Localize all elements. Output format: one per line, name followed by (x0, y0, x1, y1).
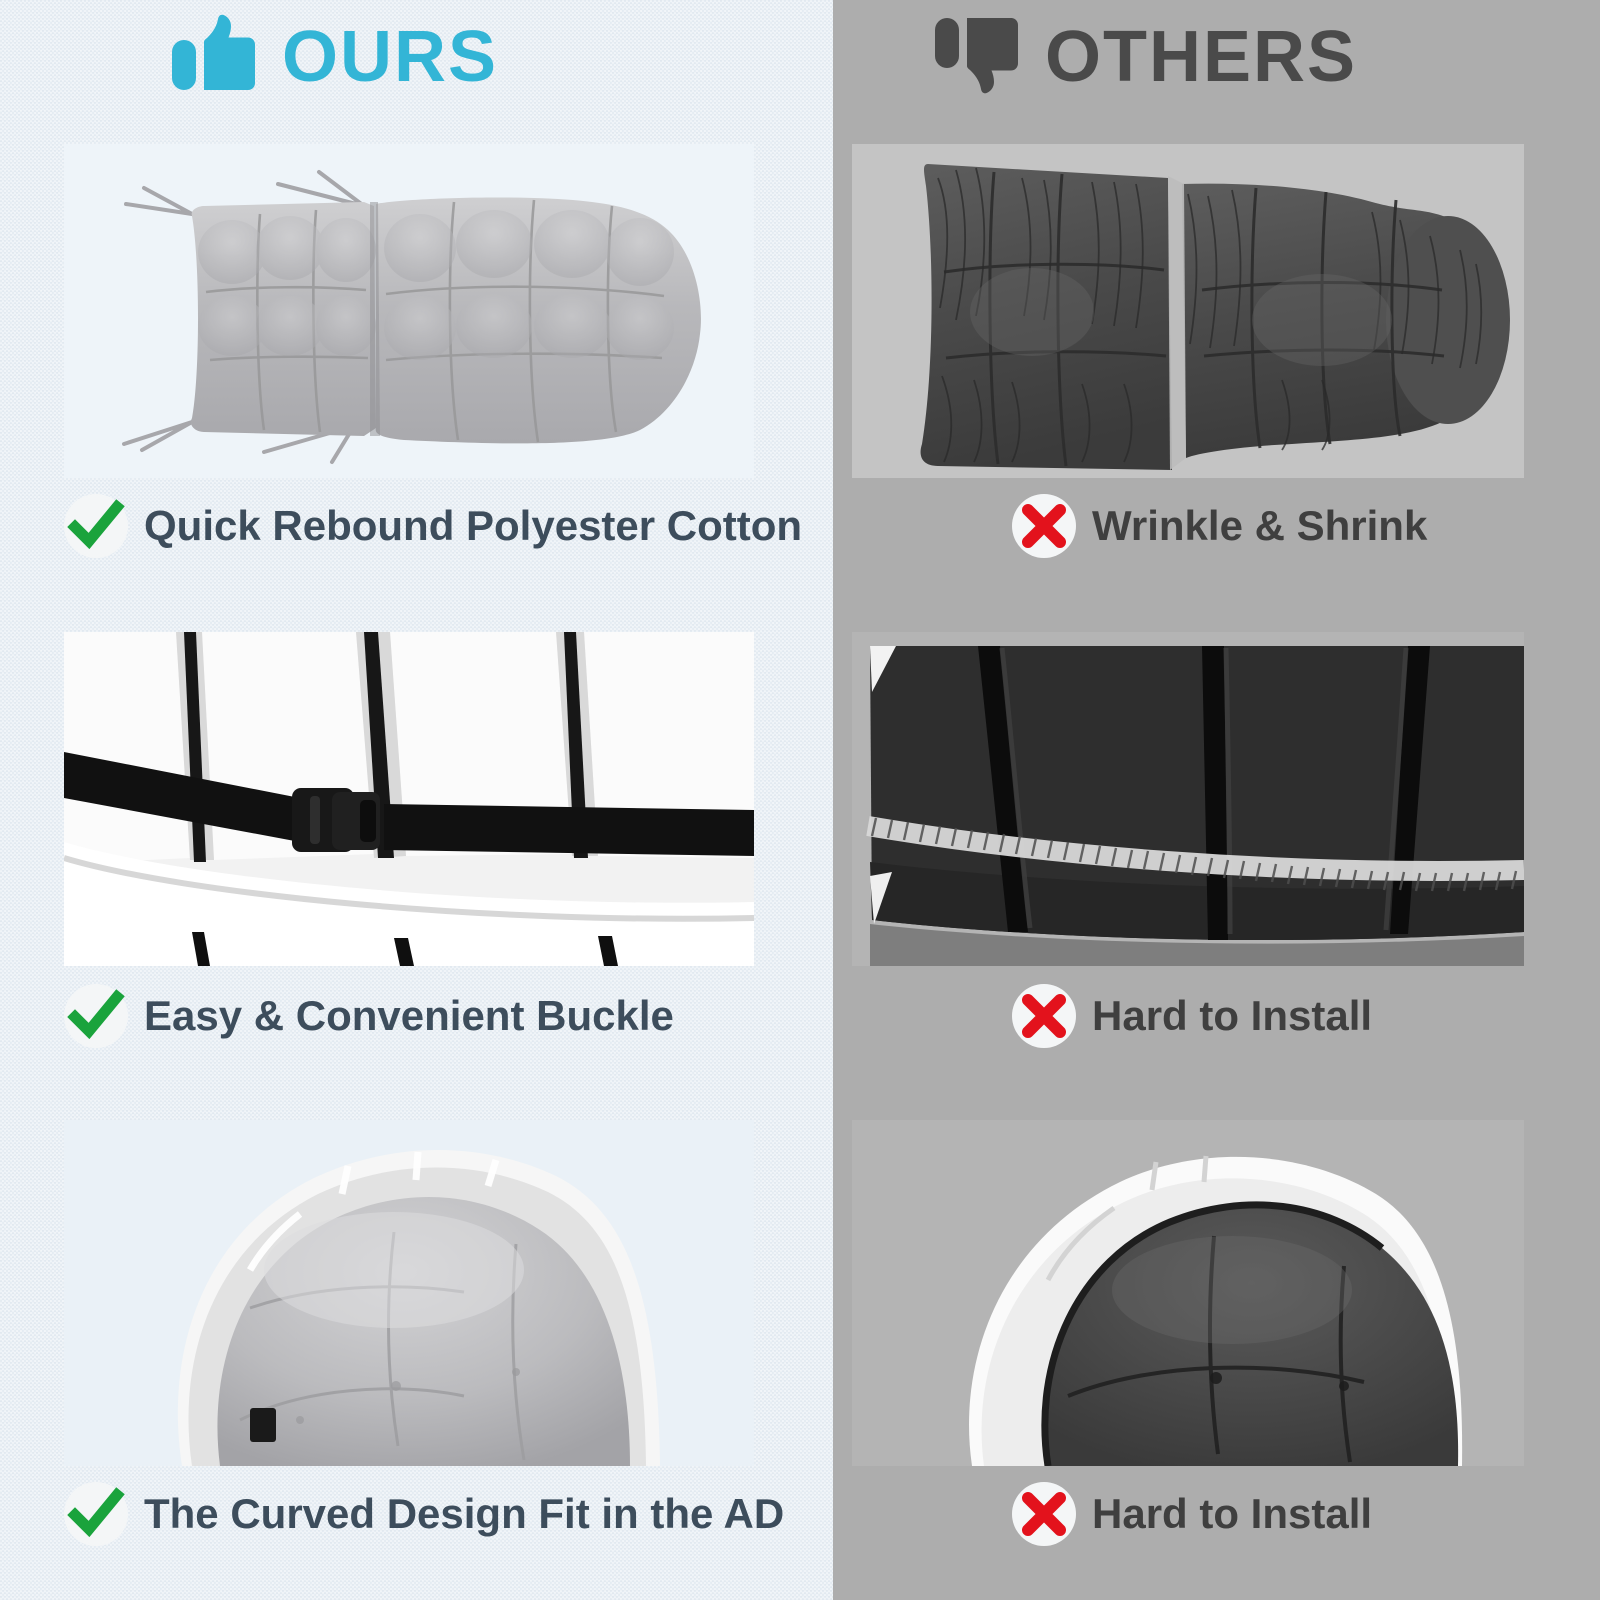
red-cross-icon (1012, 494, 1076, 558)
comparison-infographic: OURS (0, 0, 1600, 1600)
ours-caption-row2: Easy & Convenient Buckle (64, 984, 674, 1048)
others-caption-row1: Wrinkle & Shrink (1012, 494, 1427, 558)
others-panel: OTHERS (833, 0, 1600, 1600)
ours-header-label: OURS (282, 21, 498, 93)
others-caption-row2-label: Hard to Install (1092, 995, 1372, 1037)
others-image-row1 (852, 144, 1524, 478)
ours-caption-row2-label: Easy & Convenient Buckle (144, 995, 674, 1037)
others-header-label: OTHERS (1045, 21, 1357, 93)
others-caption-row3: Hard to Install (1012, 1482, 1372, 1546)
others-caption-row1-label: Wrinkle & Shrink (1092, 505, 1427, 547)
thumbs-up-icon (170, 14, 256, 99)
red-cross-icon (1012, 984, 1076, 1048)
ours-caption-row1: Quick Rebound Polyester Cotton (64, 494, 802, 558)
others-caption-row3-label: Hard to Install (1092, 1493, 1372, 1535)
ours-image-row1 (64, 144, 754, 478)
ours-caption-row3-label: The Curved Design Fit in the AD (144, 1493, 784, 1535)
others-image-row3 (852, 1120, 1524, 1466)
others-image-row2 (852, 632, 1524, 966)
others-header: OTHERS (933, 14, 1357, 99)
ours-caption-row3: The Curved Design Fit in the AD (64, 1482, 784, 1546)
green-check-icon (64, 494, 128, 558)
ours-header: OURS (170, 14, 498, 99)
green-check-icon (64, 984, 128, 1048)
ours-image-row2 (64, 632, 754, 966)
green-check-icon (64, 1482, 128, 1546)
ours-image-row3 (64, 1120, 754, 1466)
thumbs-down-icon (933, 14, 1019, 99)
ours-caption-row1-label: Quick Rebound Polyester Cotton (144, 505, 802, 547)
others-caption-row2: Hard to Install (1012, 984, 1372, 1048)
ours-panel: OURS (0, 0, 833, 1600)
red-cross-icon (1012, 1482, 1076, 1546)
